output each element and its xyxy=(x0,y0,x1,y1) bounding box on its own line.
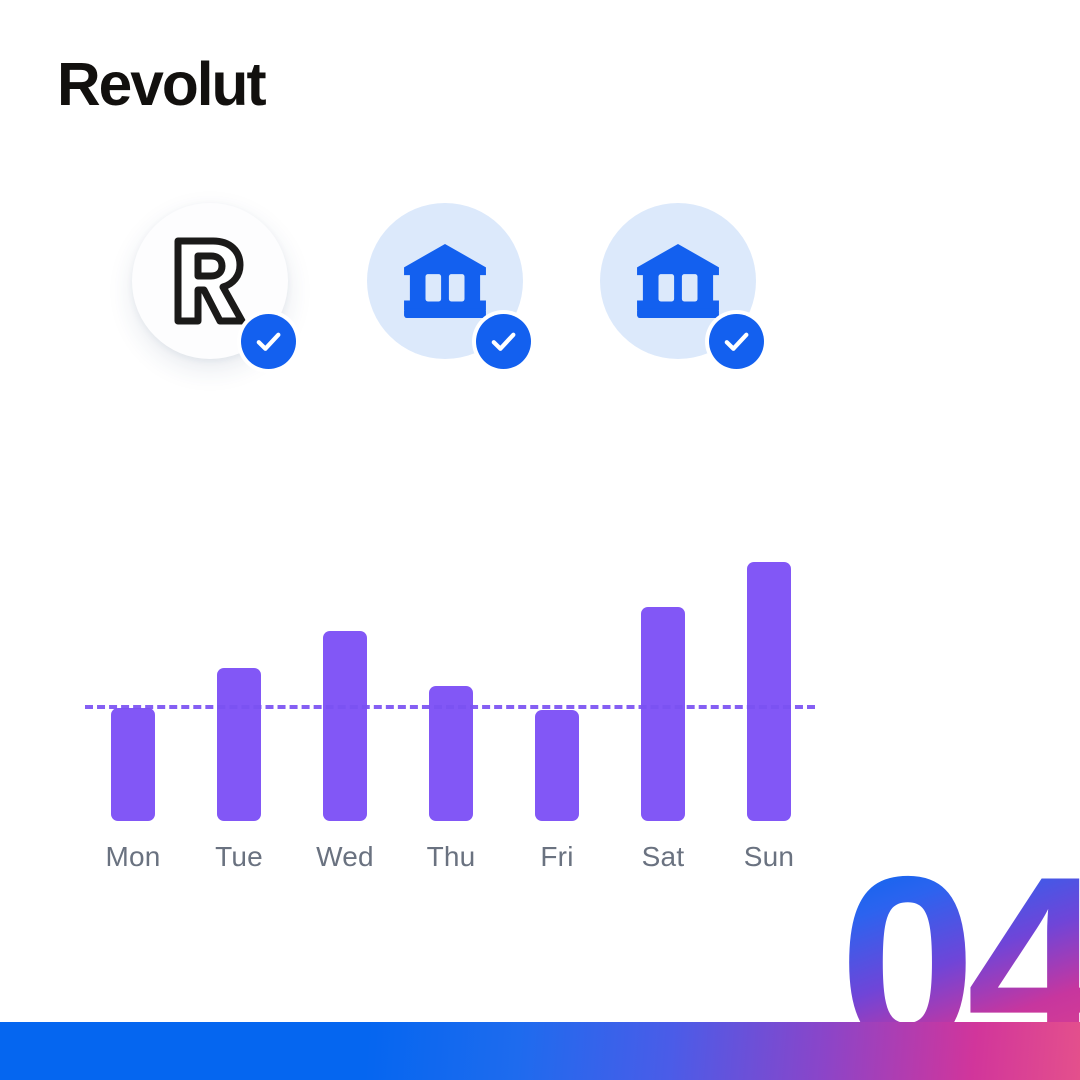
weekly-spending-chart: MonTueWedThuFriSatSun xyxy=(0,0,1080,900)
chart-bar[interactable] xyxy=(535,710,579,821)
footer-gradient-bar xyxy=(0,1022,1080,1080)
chart-plot-area: MonTueWedThuFriSatSun xyxy=(0,0,1080,900)
chart-x-label: Fri xyxy=(497,841,617,873)
chart-x-label: Thu xyxy=(391,841,511,873)
average-dashed-line xyxy=(85,705,815,709)
chart-x-label: Mon xyxy=(73,841,193,873)
chart-bar[interactable] xyxy=(641,607,685,821)
chart-x-label: Sat xyxy=(603,841,723,873)
card-canvas: Revolut xyxy=(0,0,1080,1080)
chart-bar[interactable] xyxy=(111,708,155,821)
chart-bar[interactable] xyxy=(323,631,367,821)
chart-x-label: Tue xyxy=(179,841,299,873)
chart-x-label: Wed xyxy=(285,841,405,873)
chart-x-label: Sun xyxy=(709,841,829,873)
chart-bar[interactable] xyxy=(747,562,791,821)
chart-bar[interactable] xyxy=(217,668,261,821)
